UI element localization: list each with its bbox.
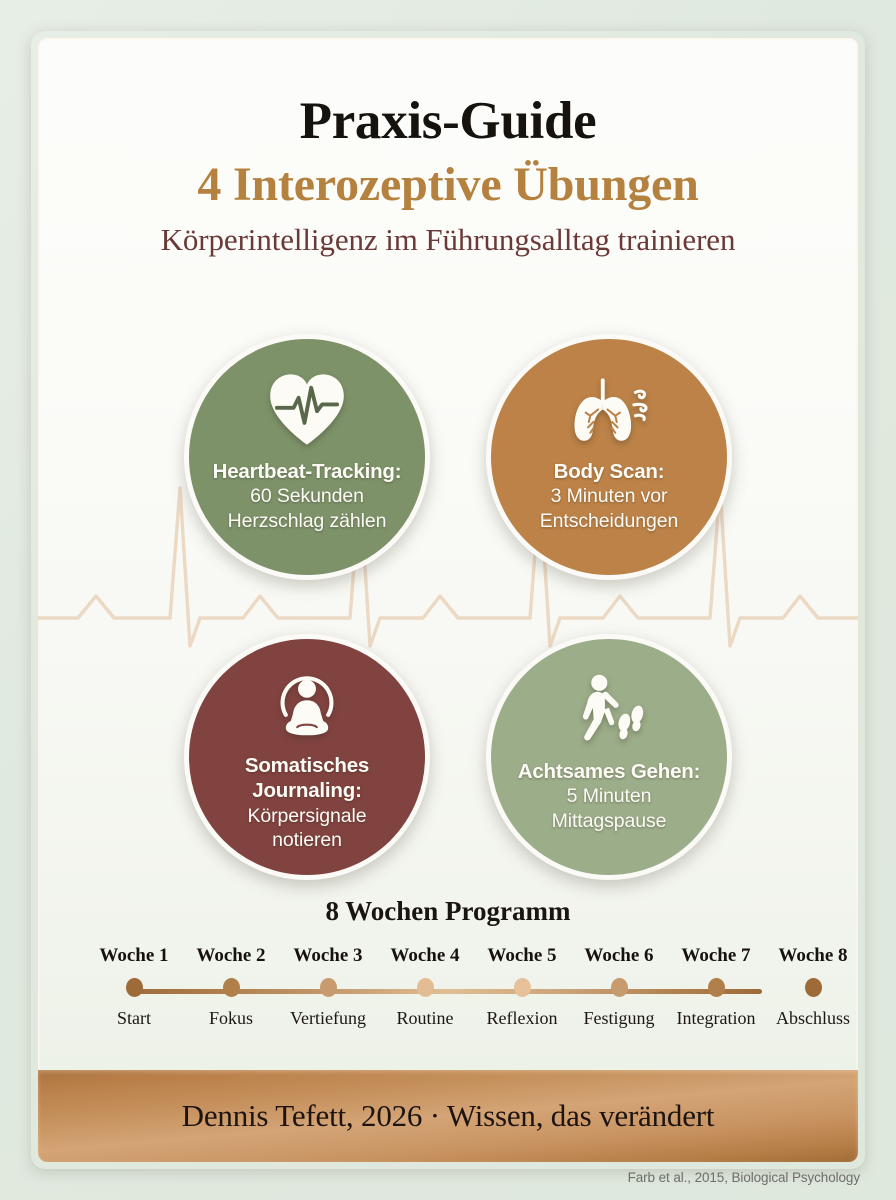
exercise-desc-line2: notieren — [192, 828, 422, 852]
timeline-dot[interactable] — [126, 978, 143, 997]
page-tagline: Körperintelligenz im Führungsalltag trai… — [38, 222, 858, 258]
lungs-breath-icon — [567, 367, 651, 451]
timeline-dot[interactable] — [320, 978, 337, 997]
timeline-week-label: Woche 6 — [567, 945, 671, 967]
exercise-desc-line1: 60 Sekunden — [192, 484, 422, 508]
timeline-step-2[interactable]: Woche 2 Fokus — [179, 945, 283, 1029]
footer-bar: Dennis Tefett, 2026 · Wissen, das veränd… — [38, 1070, 858, 1162]
footer-credit: Dennis Tefett, 2026 · Wissen, das veränd… — [182, 1098, 715, 1134]
timeline-dot[interactable] — [417, 978, 434, 997]
exercise-desc-line2: Herzschlag zählen — [192, 509, 422, 533]
program-timeline: 8 Wochen Programm Woche 1 Start Woche 2 … — [38, 896, 858, 1037]
exercise-desc-line1: 3 Minuten vor — [494, 484, 724, 508]
heart-pulse-icon — [265, 367, 349, 451]
page-subtitle: 4 Interozeptive Übungen — [38, 157, 858, 214]
exercise-title: Somatisches Journaling: — [192, 753, 422, 804]
timeline-phase-label: Festigung — [567, 1008, 671, 1029]
exercise-bubble-body-scan[interactable]: Body Scan: 3 Minuten vor Entscheidungen — [486, 334, 732, 580]
timeline-phase-label: Reflexion — [470, 1008, 574, 1029]
timeline-step-8[interactable]: Woche 8 Abschluss — [761, 945, 858, 1029]
timeline-step-3[interactable]: Woche 3 Vertiefung — [276, 945, 380, 1029]
timeline-step-4[interactable]: Woche 4 Routine — [373, 945, 477, 1029]
timeline-step-6[interactable]: Woche 6 Festigung — [567, 945, 671, 1029]
timeline-week-label: Woche 5 — [470, 945, 574, 967]
timeline-track: Woche 1 Start Woche 2 Fokus Woche 3 Vert… — [53, 945, 843, 1037]
exercise-bubble-text: Achtsames Gehen: 5 Minuten Mittagspause — [494, 759, 724, 833]
timeline-week-label: Woche 7 — [664, 945, 768, 967]
exercise-bubble-text: Body Scan: 3 Minuten vor Entscheidungen — [494, 459, 724, 533]
timeline-week-label: Woche 4 — [373, 945, 477, 967]
timeline-phase-label: Start — [82, 1008, 186, 1029]
timeline-step-7[interactable]: Woche 7 Integration — [664, 945, 768, 1029]
timeline-heading: 8 Wochen Programm — [38, 896, 858, 927]
exercise-bubble-somatic-journaling[interactable]: Somatisches Journaling: Körpersignale no… — [184, 634, 430, 880]
exercise-title: Achtsames Gehen: — [494, 759, 724, 784]
timeline-dot[interactable] — [611, 978, 628, 997]
timeline-phase-label: Abschluss — [761, 1008, 858, 1029]
poster-frame: Praxis-Guide 4 Interozeptive Übungen Kör… — [31, 31, 865, 1169]
exercise-title: Body Scan: — [494, 459, 724, 484]
source-citation: Farb et al., 2015, Biological Psychology — [628, 1170, 860, 1185]
exercise-bubble-mindful-walking[interactable]: Achtsames Gehen: 5 Minuten Mittagspause — [486, 634, 732, 880]
timeline-dot[interactable] — [514, 978, 531, 997]
exercise-title: Heartbeat-Tracking: — [192, 459, 422, 484]
timeline-dot[interactable] — [708, 978, 725, 997]
exercise-desc-line1: Körpersignale — [192, 804, 422, 828]
timeline-week-label: Woche 2 — [179, 945, 283, 967]
poster-inner-panel: Praxis-Guide 4 Interozeptive Übungen Kör… — [38, 38, 858, 1162]
timeline-phase-label: Fokus — [179, 1008, 283, 1029]
timeline-dot[interactable] — [223, 978, 240, 997]
timeline-week-label: Woche 1 — [82, 945, 186, 967]
walking-person-icon — [567, 667, 651, 751]
exercise-bubble-heartbeat-tracking[interactable]: Heartbeat-Tracking: 60 Sekunden Herzschl… — [184, 334, 430, 580]
exercise-bubble-text: Heartbeat-Tracking: 60 Sekunden Herzschl… — [192, 459, 422, 533]
timeline-phase-label: Integration — [664, 1008, 768, 1029]
timeline-week-label: Woche 8 — [761, 945, 858, 967]
timeline-step-1[interactable]: Woche 1 Start — [82, 945, 186, 1029]
page-title: Praxis-Guide — [38, 94, 858, 150]
meditation-lotus-icon — [265, 661, 349, 745]
exercise-bubble-text: Somatisches Journaling: Körpersignale no… — [192, 753, 422, 852]
exercise-desc-line2: Mittagspause — [494, 809, 724, 833]
exercise-desc-line2: Entscheidungen — [494, 509, 724, 533]
exercise-bubble-grid: Heartbeat-Tracking: 60 Sekunden Herzschl… — [38, 316, 858, 876]
timeline-step-5[interactable]: Woche 5 Reflexion — [470, 945, 574, 1029]
timeline-phase-label: Vertiefung — [276, 1008, 380, 1029]
timeline-week-label: Woche 3 — [276, 945, 380, 967]
timeline-phase-label: Routine — [373, 1008, 477, 1029]
timeline-dot[interactable] — [805, 978, 822, 997]
exercise-desc-line1: 5 Minuten — [494, 784, 724, 808]
header: Praxis-Guide 4 Interozeptive Übungen Kör… — [38, 38, 858, 258]
